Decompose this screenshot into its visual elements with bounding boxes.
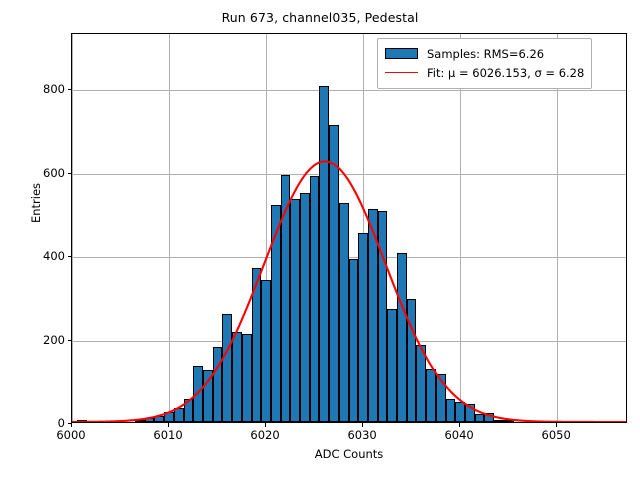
page-title: Run 673, channel035, Pedestal xyxy=(0,10,640,25)
x-tick-mark xyxy=(362,423,363,427)
y-tick-mark xyxy=(68,256,72,257)
histogram-figure: Run 673, channel035, Pedestal 0200400600… xyxy=(0,0,640,480)
x-tick-label: 6010 xyxy=(153,428,182,442)
legend-label-samples: Samples: RMS=6.26 xyxy=(427,47,544,61)
x-tick-label: 6040 xyxy=(444,428,473,442)
x-axis-tick-labels: 600060106020603060406050 xyxy=(0,424,640,444)
legend: Samples: RMS=6.26 Fit: μ = 6026.153, σ =… xyxy=(377,38,592,89)
y-axis-label: Entries xyxy=(29,143,43,263)
y-tick-mark xyxy=(68,89,72,90)
y-tick-mark xyxy=(68,340,72,341)
x-tick-label: 6050 xyxy=(542,428,571,442)
x-tick-label: 6020 xyxy=(250,428,279,442)
legend-item-samples: Samples: RMS=6.26 xyxy=(385,44,584,63)
x-tick-mark xyxy=(168,423,169,427)
x-axis-label: ADC Counts xyxy=(71,447,627,461)
legend-item-fit: Fit: μ = 6026.153, σ = 6.28 xyxy=(385,63,584,82)
x-tick-mark xyxy=(556,423,557,427)
y-tick-mark xyxy=(68,173,72,174)
x-tick-mark xyxy=(71,423,72,427)
legend-line-icon xyxy=(385,72,418,73)
y-tick-label: 400 xyxy=(43,249,65,263)
y-tick-label: 800 xyxy=(43,82,65,96)
x-tick-mark xyxy=(459,423,460,427)
x-tick-label: 6000 xyxy=(56,428,85,442)
x-tick-mark xyxy=(265,423,266,427)
y-tick-label: 200 xyxy=(43,333,65,347)
legend-label-fit: Fit: μ = 6026.153, σ = 6.28 xyxy=(427,66,584,80)
gaussian-fit-curve xyxy=(72,34,626,422)
plot-area xyxy=(71,33,627,423)
y-tick-label: 600 xyxy=(43,166,65,180)
x-tick-label: 6030 xyxy=(347,428,376,442)
legend-patch-icon xyxy=(385,48,418,59)
